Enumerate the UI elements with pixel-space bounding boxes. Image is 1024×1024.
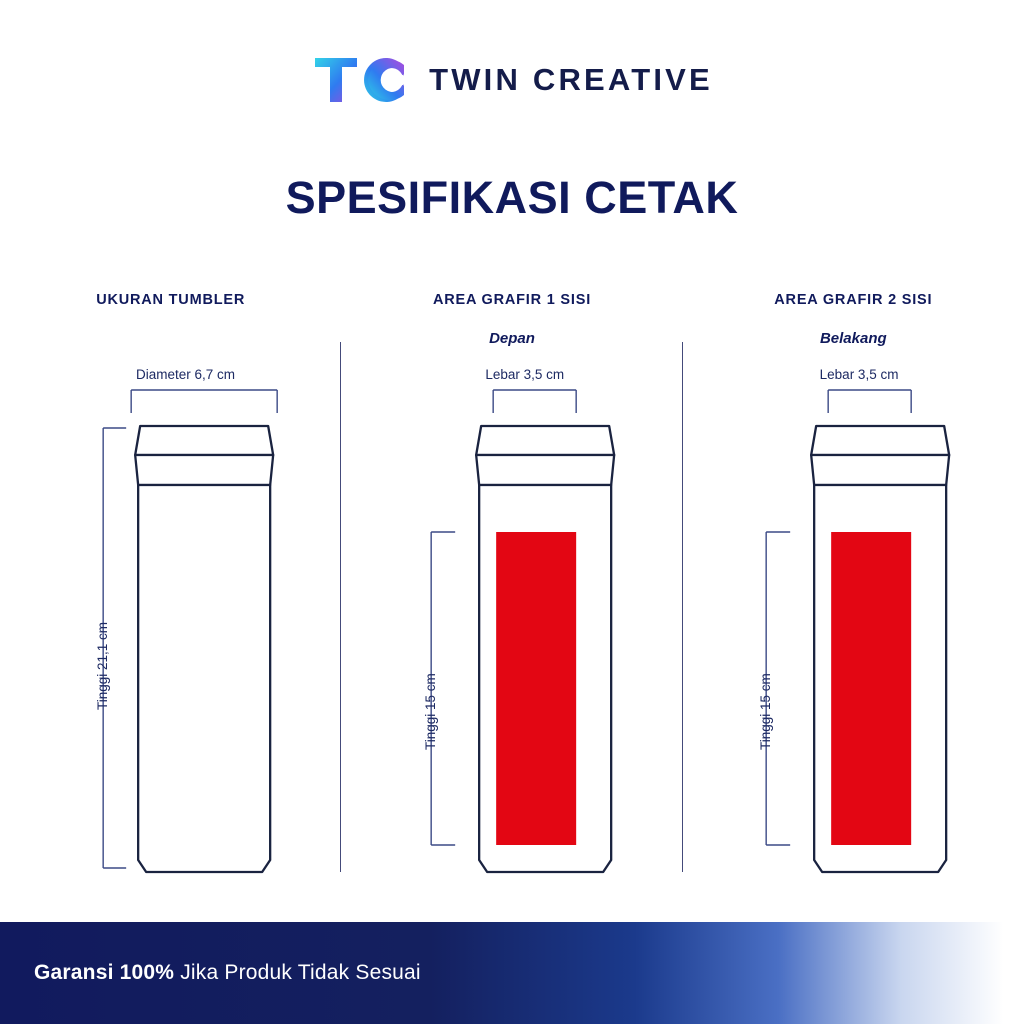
spec-columns: UKURAN TUMBLER xyxy=(0,280,1024,890)
print-area-front xyxy=(496,532,576,845)
brand-logo: TWIN CREATIVE xyxy=(0,52,1024,108)
tumbler-outline xyxy=(135,426,273,872)
footer-rest: Jika Produk Tidak Sesuai xyxy=(174,961,421,984)
spec-sheet-page: TWIN CREATIVE SPESIFIKASI CETAK UKURAN T… xyxy=(0,0,1024,1024)
tc-monogram-icon xyxy=(311,52,407,108)
width-label: Lebar 3,5 cm xyxy=(820,367,899,382)
page-title: SPESIFIKASI CETAK xyxy=(0,172,1024,224)
spec-column-engrave-2side: AREA GRAFIR 2 SISI Belakang xyxy=(683,280,1024,890)
width-dimension-line xyxy=(131,390,277,413)
height-label: Tinggi 21,1 cm xyxy=(95,622,110,710)
spec-column-engrave-1side: AREA GRAFIR 1 SISI Depan xyxy=(341,280,682,890)
width-label: Lebar 3,5 cm xyxy=(485,367,564,382)
spec-column-tumbler-size: UKURAN TUMBLER xyxy=(0,280,341,890)
diameter-label: Diameter 6,7 cm xyxy=(136,367,235,382)
print-area-back xyxy=(831,532,911,845)
footer-strong: Garansi 100% xyxy=(34,961,174,984)
width-dimension-line xyxy=(493,390,576,413)
brand-name: TWIN CREATIVE xyxy=(429,62,713,98)
footer-banner: Garansi 100% Jika Produk Tidak Sesuai xyxy=(0,922,1024,1024)
height-label: Tinggi 15 cm xyxy=(423,673,438,750)
height-label: Tinggi 15 cm xyxy=(758,673,773,750)
width-dimension-line xyxy=(828,390,911,413)
footer-text: Garansi 100% Jika Produk Tidak Sesuai xyxy=(34,961,421,985)
